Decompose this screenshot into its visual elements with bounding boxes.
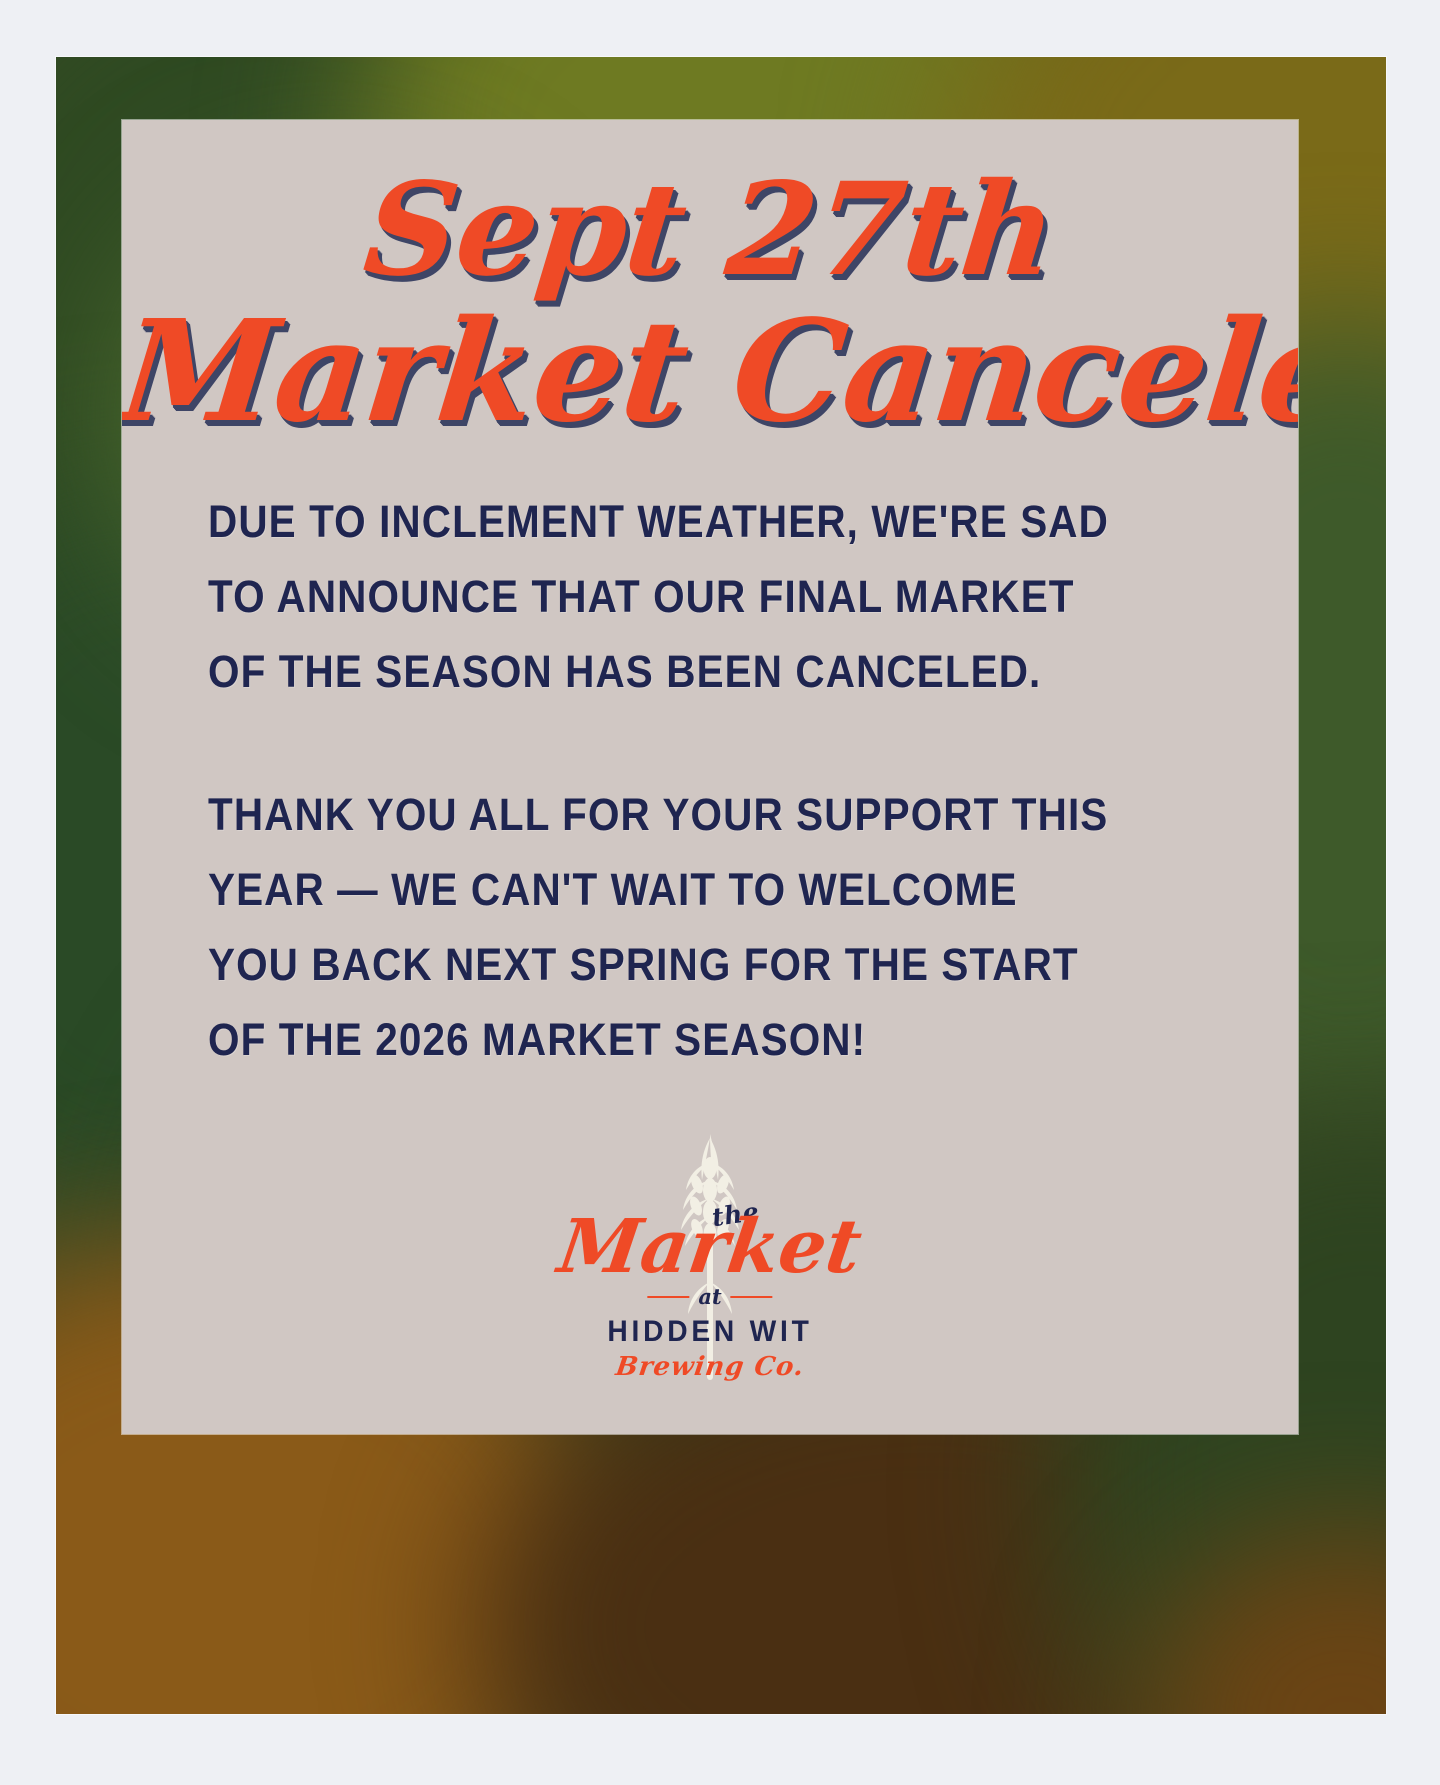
body-line: YOU BACK NEXT SPRING FOR THE START — [208, 927, 1153, 1002]
logo-rule-left — [647, 1296, 689, 1298]
body-line: OF THE SEASON HAS BEEN CANCELED. — [208, 634, 1153, 709]
body-line: THANK YOU ALL FOR YOUR SUPPORT THIS — [208, 777, 1153, 852]
headline-block: Sept 27th Market Canceled — [122, 120, 1298, 442]
announcement-flyer-card: Sept 27th Market Canceled DUE TO INCLEME… — [122, 120, 1298, 1434]
paragraph-1: DUE TO INCLEMENT WEATHER, WE'RE SAD TO A… — [208, 484, 1153, 709]
brand-logo-lockup: the Market at HIDDEN WIT Brewing Co. — [122, 1132, 1298, 1382]
paragraph-2: THANK YOU ALL FOR YOUR SUPPORT THIS YEAR… — [208, 777, 1153, 1077]
logo-stage: the Market at HIDDEN WIT Brewing Co. — [560, 1132, 860, 1382]
logo-market-text: Market — [554, 1210, 866, 1284]
logo-at-text: at — [698, 1284, 721, 1309]
headline-date: Sept 27th — [122, 166, 1298, 294]
body-copy: DUE TO INCLEMENT WEATHER, WE'RE SAD TO A… — [122, 484, 1298, 1077]
poster-page: Sept 27th Market Canceled DUE TO INCLEME… — [0, 0, 1440, 1785]
headline-status: Market Canceled — [122, 302, 1298, 442]
body-line: YEAR — WE CAN'T WAIT TO WELCOME — [208, 852, 1153, 927]
logo-rule-right — [731, 1296, 773, 1298]
body-line: TO ANNOUNCE THAT OUR FINAL MARKET — [208, 559, 1153, 634]
body-line: DUE TO INCLEMENT WEATHER, WE'RE SAD — [208, 484, 1153, 559]
logo-brewing-co-text: Brewing Co. — [614, 1352, 806, 1382]
logo-at-row: at — [647, 1284, 772, 1309]
logo-brewery-name: HIDDEN WIT — [607, 1315, 812, 1349]
body-line: OF THE 2026 MARKET SEASON! — [208, 1002, 1153, 1077]
